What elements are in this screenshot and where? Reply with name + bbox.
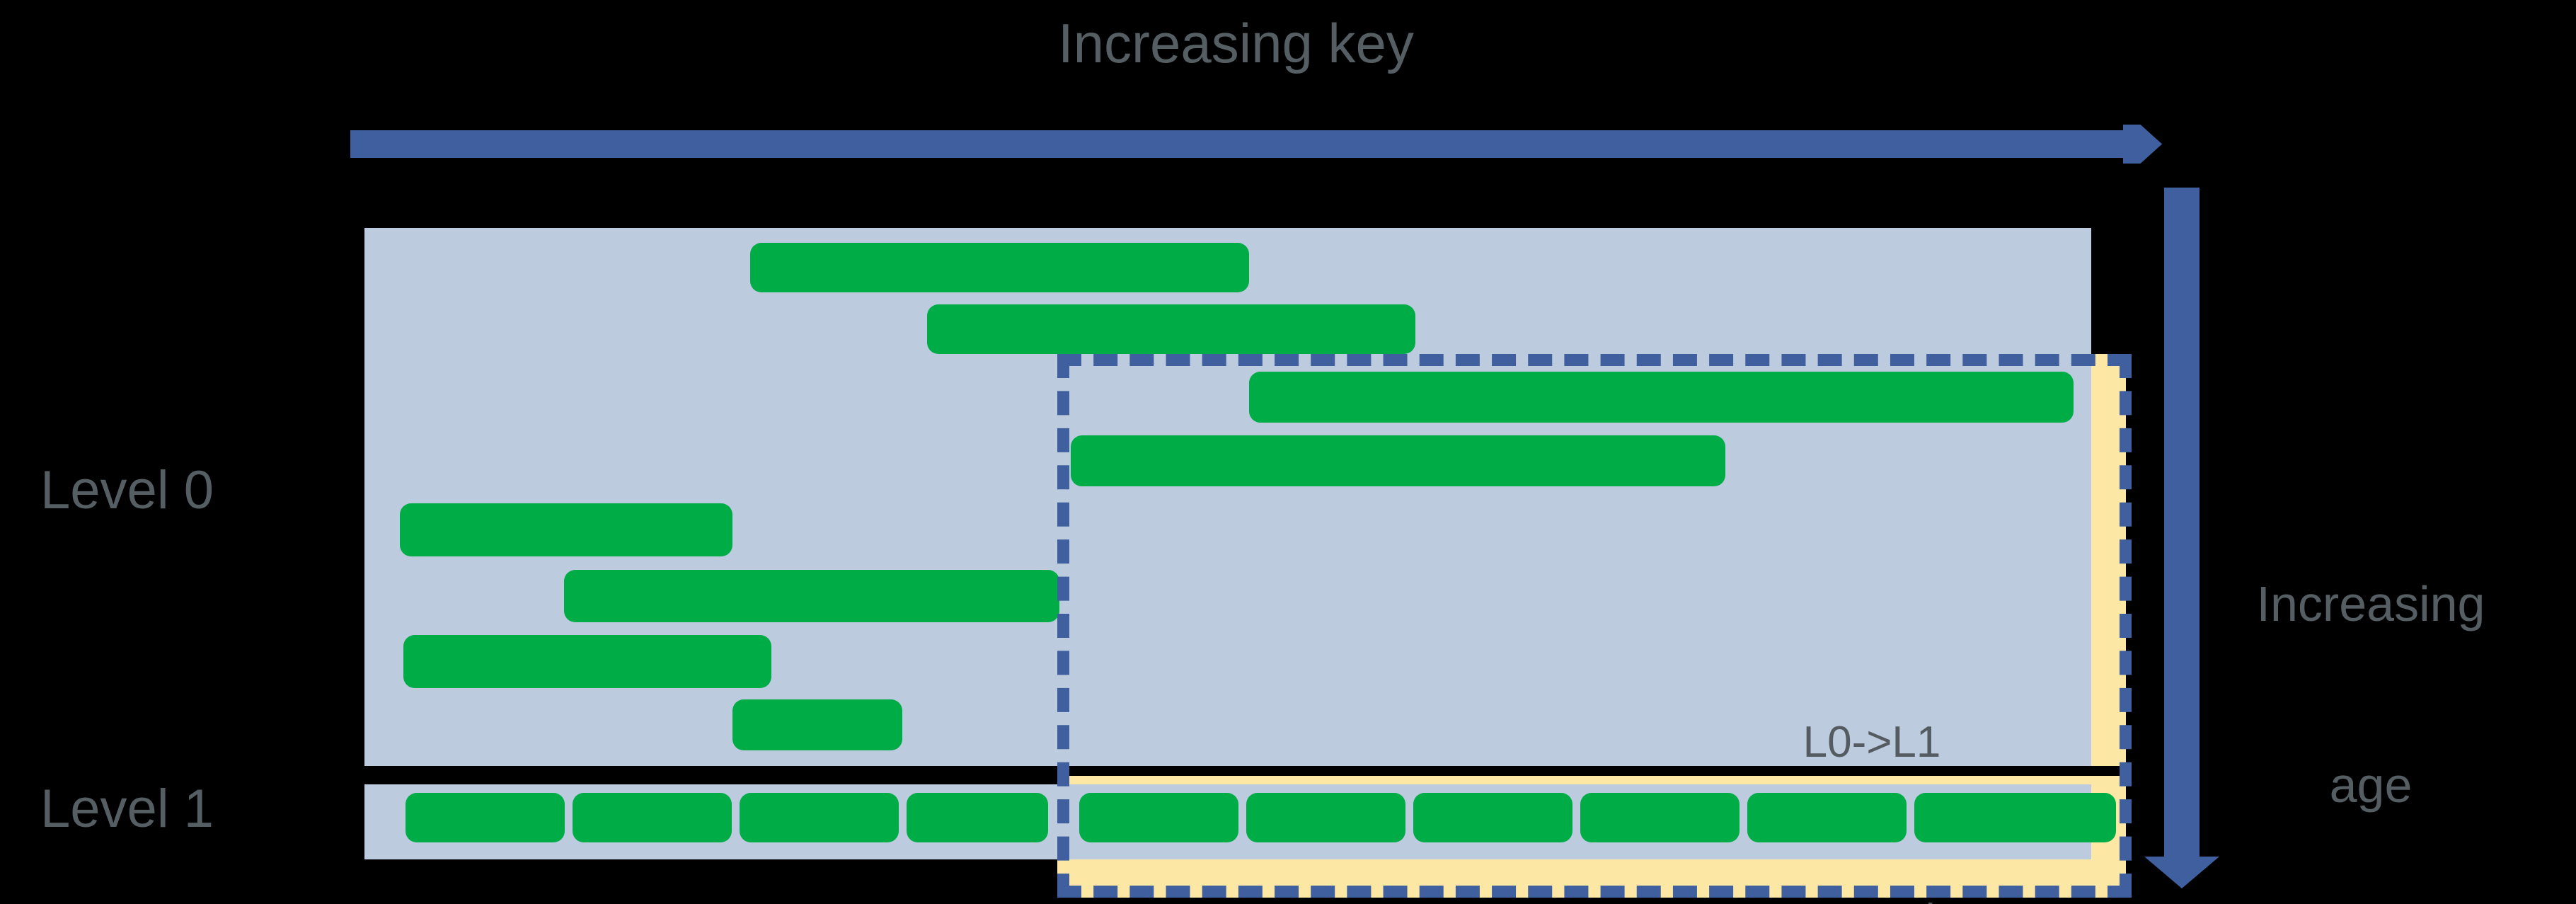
level0-sstable xyxy=(750,243,1249,292)
compaction-label: L0->L1 compaction xyxy=(1649,595,2095,904)
level1-label: Level 1 xyxy=(40,782,214,836)
level0-sstable xyxy=(927,304,1415,354)
increasing-key-label: Increasing key xyxy=(1058,16,1414,71)
level0-sstable xyxy=(564,570,1059,622)
level0-label: Level 0 xyxy=(40,464,214,517)
level0-sstable xyxy=(732,699,902,750)
level0-sstable xyxy=(403,635,771,688)
increasing-age-line2: age xyxy=(2208,755,2534,816)
level1-sstable xyxy=(573,793,732,842)
level1-sstable xyxy=(907,793,1048,842)
level0-sstable xyxy=(400,503,732,556)
level1-sstable xyxy=(406,793,565,842)
arrow-right-icon xyxy=(350,125,2162,164)
increasing-age-line1: Increasing xyxy=(2208,574,2534,634)
compaction-label-line1: L0->L1 xyxy=(1649,713,2095,772)
compaction-label-line2: compaction xyxy=(1649,891,2095,904)
lsm-compaction-diagram: Increasing key Increasing age Level 0 Le… xyxy=(0,0,2576,904)
level1-sstable xyxy=(740,793,899,842)
increasing-age-label: Increasing age xyxy=(2208,453,2534,904)
